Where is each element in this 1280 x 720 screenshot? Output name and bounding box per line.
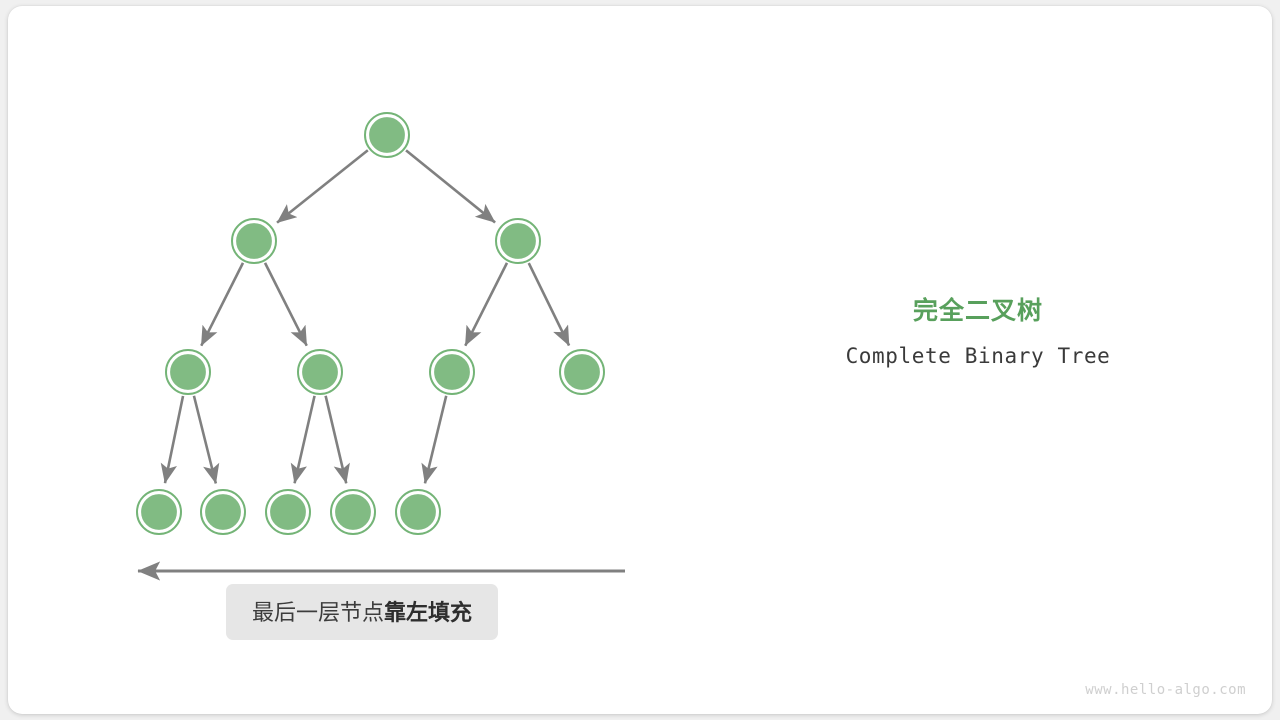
tree-edge	[165, 396, 183, 483]
tree-node-circle	[301, 353, 339, 391]
tree-node	[266, 490, 310, 534]
tree-edge	[277, 150, 368, 222]
tree-edge	[465, 263, 507, 346]
tree-node	[430, 350, 474, 394]
tree-node-circle	[399, 493, 437, 531]
tree-edge	[295, 396, 315, 483]
tree-edge	[201, 263, 243, 346]
tree-node-circle	[169, 353, 207, 391]
tree-node	[298, 350, 342, 394]
tree-node-circle	[433, 353, 471, 391]
legend-subtitle: Complete Binary Tree	[768, 344, 1188, 368]
tree-node	[232, 219, 276, 263]
tree-node	[396, 490, 440, 534]
tree-node-circle	[499, 222, 537, 260]
tree-edge	[529, 263, 569, 345]
tree-node	[496, 219, 540, 263]
tree-node-circle	[368, 116, 406, 154]
tree-edge	[326, 396, 347, 483]
tree-node	[166, 350, 210, 394]
tree-node	[331, 490, 375, 534]
tree-edge	[194, 396, 216, 484]
figure-card: 完全二叉树 Complete Binary Tree 最后一层节点靠左填充 ww…	[8, 6, 1272, 714]
tree-edge	[425, 396, 446, 484]
tree-edge	[265, 263, 307, 346]
tree-edge-layer	[165, 150, 569, 483]
tree-edge	[406, 150, 495, 222]
tree-node-circle	[140, 493, 178, 531]
caption-emphasis: 靠左填充	[384, 600, 472, 625]
legend-block: 完全二叉树 Complete Binary Tree	[768, 296, 1188, 368]
tree-node-circle	[563, 353, 601, 391]
tree-node-circle	[204, 493, 242, 531]
caption-pill: 最后一层节点靠左填充	[226, 584, 498, 640]
tree-node	[560, 350, 604, 394]
tree-node-circle	[235, 222, 273, 260]
caption-prefix: 最后一层节点	[252, 600, 384, 625]
tree-node-circle	[334, 493, 372, 531]
legend-title: 完全二叉树	[768, 296, 1188, 326]
tree-node-circle	[269, 493, 307, 531]
tree-node	[365, 113, 409, 157]
tree-node-layer	[137, 113, 604, 534]
tree-node	[201, 490, 245, 534]
watermark: www.hello-algo.com	[1085, 682, 1246, 698]
tree-node	[137, 490, 181, 534]
